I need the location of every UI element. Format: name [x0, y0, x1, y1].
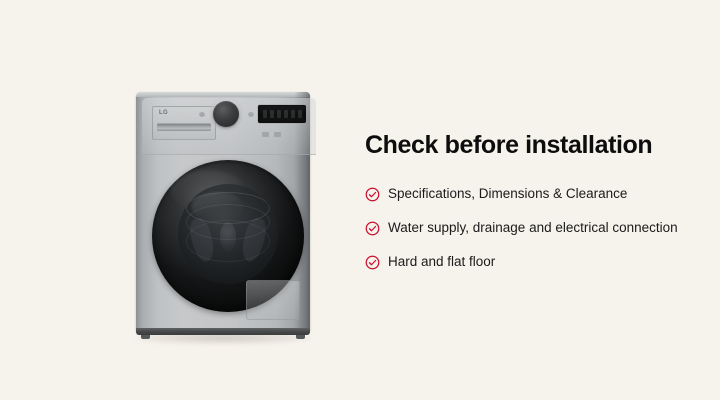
indicator-icon [274, 132, 281, 137]
program-dial-knob [213, 101, 239, 127]
indicator-icon [262, 132, 269, 137]
display-segment [277, 110, 281, 118]
list-item-label: Water supply, drainage and electrical co… [388, 220, 678, 236]
drum-center [220, 222, 236, 252]
list-item-label: Specifications, Dimensions & Clearance [388, 186, 627, 202]
machine-plinth [136, 328, 310, 335]
washing-machine-image: LG [130, 86, 316, 342]
led-display [258, 105, 306, 123]
lg-logo: LG [159, 110, 168, 116]
display-segment [291, 110, 295, 118]
list-item-label: Hard and flat floor [388, 254, 495, 270]
detergent-drawer: LG [152, 106, 216, 140]
list-item: Specifications, Dimensions & Clearance [365, 186, 695, 202]
display-segment [270, 110, 274, 118]
promo-banner: LG [0, 0, 720, 400]
machine-cabinet: LG [136, 92, 310, 332]
check-circle-icon [365, 187, 380, 202]
machine-foot [296, 335, 305, 339]
display-segment [298, 110, 302, 118]
page-title: Check before installation [365, 130, 695, 160]
check-circle-icon [365, 255, 380, 270]
list-item: Hard and flat floor [365, 254, 695, 270]
display-segment [284, 110, 288, 118]
drawer-handle [157, 123, 211, 131]
check-circle-icon [365, 221, 380, 236]
door-reflection [170, 170, 244, 210]
content-column: Check before installation Specifications… [365, 130, 695, 270]
list-item: Water supply, drainage and electrical co… [365, 220, 695, 236]
panel-indicator-icons [262, 130, 304, 138]
panel-button-right [248, 111, 254, 117]
filter-access-flap [246, 280, 300, 320]
panel-button-left [199, 111, 205, 117]
machine-foot [141, 335, 150, 339]
display-segment [263, 110, 267, 118]
checklist: Specifications, Dimensions & Clearance W… [365, 186, 695, 270]
